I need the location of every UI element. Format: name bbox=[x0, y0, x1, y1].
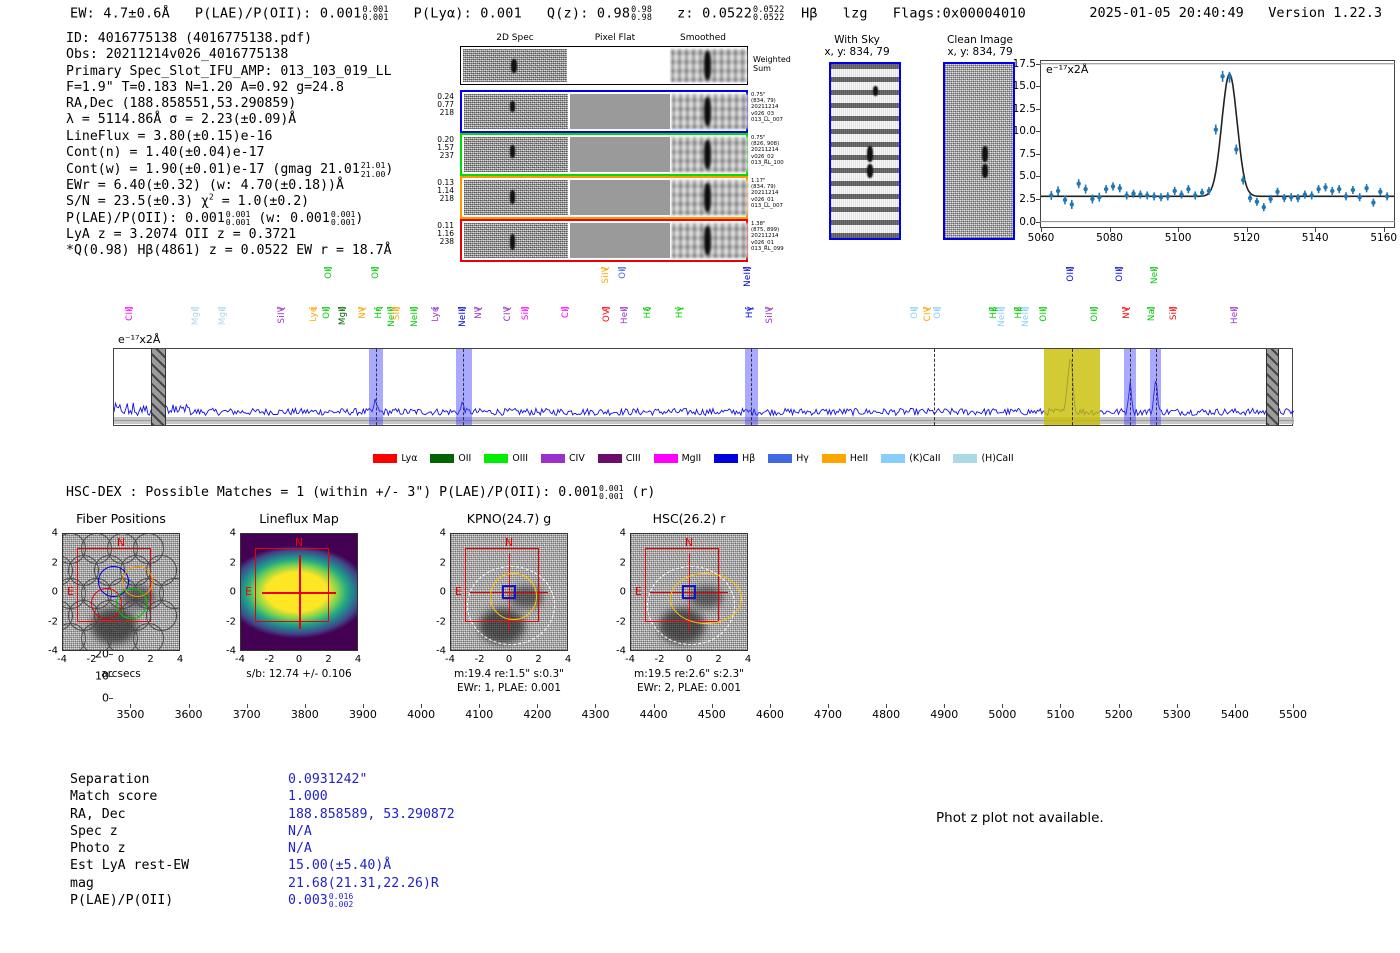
imaging-ytick: -2 bbox=[428, 616, 446, 627]
match-table-value: N/A bbox=[288, 823, 455, 840]
emission-line-brace-icon: { bbox=[125, 306, 135, 312]
full-spectrum-xtick: 5200 bbox=[1105, 708, 1133, 721]
full-spectrum-xtickmark bbox=[770, 704, 771, 708]
info-lambda: λ = 5114.86Å σ = 2.23(±0.09)Å bbox=[66, 112, 393, 128]
legend-label: Hβ bbox=[742, 453, 755, 464]
zoom-spectrum-xtickmark bbox=[1178, 228, 1179, 232]
imaging-panel-caption: arcsecs bbox=[32, 668, 210, 680]
zoom-spectrum-xtickmark bbox=[1384, 228, 1385, 232]
spec2d-ws-pixelflat-image bbox=[569, 47, 669, 84]
compass-east-label: E bbox=[635, 585, 642, 598]
header-lineid: Hβ bbox=[801, 5, 818, 21]
full-spectrum-xtickmark bbox=[305, 704, 306, 708]
legend-item: MgII bbox=[654, 453, 702, 464]
zoom-spectrum-xtick: 5080 bbox=[1096, 232, 1123, 244]
header-code: lzg bbox=[843, 5, 868, 21]
full-spectrum-chart: CIII{MgII{MgII{SiIV{Lyα{OII{OII{MgII{NV{… bbox=[0, 278, 1400, 463]
imaging-ytick: -2 bbox=[40, 616, 58, 627]
full-spectrum-ytickmark bbox=[109, 698, 113, 699]
emission-line-brace-icon: { bbox=[358, 306, 368, 312]
legend-item: HeII bbox=[822, 453, 868, 464]
imaging-ytick: 4 bbox=[218, 528, 236, 539]
imaging-xtick: 4 bbox=[177, 654, 183, 665]
full-spectrum-xtickmark bbox=[654, 704, 655, 708]
emission-line-label: SiIV{ bbox=[601, 266, 611, 328]
full-spectrum-xtickmark bbox=[537, 704, 538, 708]
emission-line-brace-icon: { bbox=[618, 266, 628, 272]
imaging-xtick: 2 bbox=[535, 654, 541, 665]
zoom-spectrum-ytick: 0.0 bbox=[1002, 216, 1036, 228]
header-timestamp: 2025-01-05 20:40:49 bbox=[1089, 5, 1243, 21]
emission-line-brace-icon: { bbox=[933, 306, 943, 312]
info-qline: *Q(0.98) Hβ(4861) z = 0.0522 EW r = 18.7… bbox=[66, 243, 393, 259]
emission-line-label: OII{ bbox=[618, 266, 628, 328]
full-spectrum-legend: LyαOIIOIIICIVCIIIMgIIHβHγHeII(K)CaII(H)C… bbox=[0, 448, 1400, 467]
full-spectrum-xtickmark bbox=[886, 704, 887, 708]
imaging-xtick: 0 bbox=[506, 654, 512, 665]
match-plae-value: 0.003 bbox=[288, 893, 328, 908]
full-spectrum-xtick: 4700 bbox=[814, 708, 842, 721]
legend-item: (H)CaII bbox=[953, 453, 1013, 464]
zoom-spectrum-ytickmark bbox=[1036, 222, 1040, 223]
emission-line-brace-icon: { bbox=[392, 306, 402, 312]
legend-label: OII bbox=[458, 453, 471, 464]
imaging-panel-title: KPNO(24.7) g bbox=[430, 511, 588, 526]
full-spectrum-xtick: 5300 bbox=[1163, 708, 1191, 721]
legend-swatch bbox=[881, 454, 905, 463]
match-table-label: RA, Dec bbox=[70, 806, 189, 823]
zoom-spectrum-ytick: 12.5 bbox=[1002, 103, 1036, 115]
imaging-panel-image[interactable]: NE bbox=[630, 533, 748, 651]
zoom-spectrum-xtick: 5160 bbox=[1370, 232, 1397, 244]
imaging-ytick: -4 bbox=[608, 646, 626, 657]
emission-line-brace-icon: { bbox=[1066, 266, 1076, 272]
spec2d-row-pixelflat bbox=[570, 137, 670, 172]
full-spectrum-xtickmark bbox=[421, 704, 422, 708]
spec2d-row bbox=[460, 176, 748, 219]
spec2d-row bbox=[460, 90, 748, 133]
imaging-xtick: 0 bbox=[118, 654, 124, 665]
full-spectrum-line-marker bbox=[934, 349, 935, 425]
compass-north-label: N bbox=[685, 536, 693, 549]
imaging-ytick: -4 bbox=[428, 646, 446, 657]
zoom-spectrum-xtickmark bbox=[1247, 228, 1248, 232]
header-flags: Flags:0x00004010 bbox=[893, 5, 1026, 21]
zoom-spectrum-ytickmark bbox=[1036, 176, 1040, 177]
spec2d-row-smoothed bbox=[672, 94, 748, 129]
match-table-values: 0.0931242"1.000188.858589, 53.290872N/AN… bbox=[288, 771, 455, 910]
spec2d-panel: 2D Spec Pixel Flat Smoothed Weighted Sum… bbox=[420, 33, 760, 268]
match-table-value: 0.0030.0160.002 bbox=[288, 892, 455, 909]
legend-swatch bbox=[768, 454, 792, 463]
legend-swatch bbox=[484, 454, 508, 463]
spec2d-row-left-stats: 0.201.57237 bbox=[414, 136, 454, 161]
legend-swatch bbox=[598, 454, 622, 463]
match-marker-box bbox=[502, 585, 516, 599]
spec2d-row-left-stats: 0.240.77218 bbox=[414, 93, 454, 118]
header-z-lo: 0.0522 bbox=[753, 13, 784, 21]
info-plae: P(LAE)/P(OII): 0.0010.0010.001 (w: 0.001… bbox=[66, 210, 393, 226]
legend-item: Hβ bbox=[714, 453, 755, 464]
imaging-panel-caption-secondary: EWr: 1, PLAE: 0.001 bbox=[420, 682, 598, 694]
header-plae-label: P(LAE)/P(OII): bbox=[195, 5, 312, 21]
imaging-xtick: -2 bbox=[87, 654, 97, 665]
full-spectrum-xtickmark bbox=[1293, 704, 1294, 708]
cutout-with-sky-image bbox=[829, 62, 901, 240]
source-info-block: ID: 4016775138 (4016775138.pdf) Obs: 202… bbox=[66, 31, 393, 259]
full-spectrum-xtickmark bbox=[1060, 704, 1061, 708]
zoom-spectrum-xtick: 5140 bbox=[1302, 232, 1329, 244]
zoom-spectrum-xtick: 5100 bbox=[1165, 232, 1192, 244]
match-table-value: 15.00(±5.40)Å bbox=[288, 857, 455, 874]
fiber-circle bbox=[133, 623, 164, 652]
imaging-panel-title: HSC(26.2) r bbox=[610, 511, 768, 526]
emission-line-brace-icon: { bbox=[1230, 306, 1240, 312]
match-table-label: P(LAE)/P(OII) bbox=[70, 892, 189, 909]
spec2d-row-2dspec bbox=[464, 94, 568, 129]
highlighted-fiber-circle bbox=[116, 588, 147, 619]
info-slot: Primary Spec_Slot_IFU_AMP: 013_103_019_L… bbox=[66, 64, 393, 80]
imaging-xtick: -2 bbox=[655, 654, 665, 665]
spec2d-row bbox=[460, 219, 748, 262]
zoom-spectrum-ytick: 7.5 bbox=[1002, 148, 1036, 160]
header-qz: Q(z): 0.98 bbox=[547, 5, 630, 21]
full-spectrum-xtickmark bbox=[363, 704, 364, 708]
imaging-xtick: 4 bbox=[565, 654, 571, 665]
aperture-box bbox=[255, 548, 329, 622]
info-sn-pre: S/N = 23.5(±0.3) χ bbox=[66, 194, 209, 209]
info-sn: S/N = 23.5(±0.3) χ2 = 1.0(±0.2) bbox=[66, 194, 393, 210]
legend-item: CIII bbox=[598, 453, 641, 464]
legend-item: OIII bbox=[484, 453, 528, 464]
emission-line-brace-icon: { bbox=[765, 306, 775, 312]
match-table-label: mag bbox=[70, 875, 189, 892]
emission-line-brace-icon: { bbox=[474, 306, 484, 312]
spec2d-row-smoothed bbox=[672, 223, 748, 258]
compass-north-label: N bbox=[505, 536, 513, 549]
full-spectrum-xtickmark bbox=[595, 704, 596, 708]
imaging-ytick: 4 bbox=[40, 528, 58, 539]
match-table-value: 0.0931242" bbox=[288, 771, 455, 788]
zoom-spectrum-xtickmark bbox=[1110, 228, 1111, 232]
full-spectrum-axes: e⁻¹⁷x2Å bbox=[113, 348, 1293, 426]
emission-line-brace-icon: { bbox=[371, 266, 381, 272]
emission-line-brace-icon: { bbox=[1122, 306, 1132, 312]
emission-line-brace-icon: { bbox=[410, 306, 420, 312]
zoom-spectrum-axes: e⁻¹⁷x2Å bbox=[1040, 60, 1395, 228]
full-spectrum-xtickmark bbox=[1119, 704, 1120, 708]
emission-line-label: OIII{ bbox=[1066, 266, 1076, 328]
emission-line-brace-icon: { bbox=[191, 306, 201, 312]
zoom-spectrum-xtickmark bbox=[1041, 228, 1042, 232]
imaging-ytick: 4 bbox=[608, 528, 626, 539]
header-z: z: 0.0522 bbox=[677, 5, 752, 21]
legend-item: Lyα bbox=[373, 453, 417, 464]
full-spectrum-xtick: 3900 bbox=[349, 708, 377, 721]
spec2d-row-metadata: 0.75"(826, 908)20211214v026_02013_RL_100 bbox=[751, 135, 811, 166]
emission-line-brace-icon: { bbox=[431, 306, 441, 312]
emission-line-label: OII{ bbox=[324, 266, 334, 328]
full-spectrum-xtick: 5500 bbox=[1279, 708, 1307, 721]
full-spectrum-line-marker bbox=[463, 349, 464, 425]
emission-line-label: OII{ bbox=[371, 266, 381, 328]
match-table-label: Est LyA rest-EW bbox=[70, 857, 189, 874]
emission-line-brace-icon: { bbox=[277, 306, 287, 312]
legend-label: OIII bbox=[512, 453, 528, 464]
match-table-value: 1.000 bbox=[288, 788, 455, 805]
imaging-panel-title: Lineflux Map bbox=[220, 511, 378, 526]
spec2d-row-pixelflat bbox=[570, 94, 670, 129]
full-spectrum-xtickmark bbox=[479, 704, 480, 708]
header-ew: EW: 4.7±0.6Å bbox=[70, 5, 170, 21]
full-spectrum-xtick: 3500 bbox=[116, 708, 144, 721]
imaging-ytick: -2 bbox=[218, 616, 236, 627]
emission-line-brace-icon: { bbox=[1021, 306, 1031, 312]
full-spectrum-flux-annotation: e⁻¹⁷x2Å bbox=[118, 333, 160, 346]
match-table-label: Spec z bbox=[70, 823, 189, 840]
crosshair-vertical bbox=[299, 555, 301, 629]
full-spectrum-xtick: 4400 bbox=[640, 708, 668, 721]
emission-line-brace-icon: { bbox=[561, 306, 571, 312]
header-version: Version 1.22.3 bbox=[1268, 5, 1382, 21]
match-table-labels: SeparationMatch scoreRA, DecSpec zPhoto … bbox=[70, 771, 189, 909]
spec2d-ws-2dspec-image bbox=[463, 49, 567, 82]
hscdex-header-band: (r) bbox=[632, 485, 656, 500]
full-spectrum-xtick: 5100 bbox=[1046, 708, 1074, 721]
full-spectrum-xtick: 4000 bbox=[407, 708, 435, 721]
imaging-xtick: 2 bbox=[147, 654, 153, 665]
header-plae-lo: 0.001 bbox=[362, 13, 388, 21]
spec2d-col-title-2dspec: 2D Spec bbox=[460, 33, 570, 43]
emission-line-brace-icon: { bbox=[1090, 306, 1100, 312]
emission-line-brace-icon: { bbox=[309, 306, 319, 312]
imaging-ytick: 0 bbox=[40, 587, 58, 598]
match-table-value: 188.858589, 53.290872 bbox=[288, 806, 455, 823]
emission-line-brace-icon: { bbox=[458, 306, 468, 312]
imaging-ytick: 2 bbox=[428, 557, 446, 568]
header-summary-line: EW: 4.7±0.6Å P(LAE)/P(OII): 0.0010.0010.… bbox=[70, 5, 1026, 22]
full-spectrum-xtick: 3600 bbox=[175, 708, 203, 721]
imaging-panel-caption: m:19.4 re:1.5" s:0.3" bbox=[420, 668, 598, 680]
imaging-panel-image[interactable]: NE bbox=[240, 533, 358, 651]
legend-label: (K)CaII bbox=[909, 453, 940, 464]
legend-label: (H)CaII bbox=[981, 453, 1013, 464]
imaging-xtick: 2 bbox=[715, 654, 721, 665]
info-cont-w-post: ) bbox=[385, 163, 393, 178]
full-spectrum-xtick: 4600 bbox=[756, 708, 784, 721]
full-spectrum-xtick: 5000 bbox=[988, 708, 1016, 721]
emission-line-brace-icon: { bbox=[743, 266, 753, 272]
info-cont-w-lo: 21.00 bbox=[361, 170, 386, 178]
full-spectrum-line-marker bbox=[1130, 349, 1131, 425]
legend-item: (K)CaII bbox=[881, 453, 940, 464]
spec2d-ws-smoothed-image bbox=[671, 49, 747, 82]
photz-note: Phot z plot not available. bbox=[936, 810, 1104, 826]
emission-line-brace-icon: { bbox=[1169, 306, 1179, 312]
zoom-spectrum-ytick: 17.5 bbox=[1002, 58, 1036, 70]
legend-swatch bbox=[953, 454, 977, 463]
full-spectrum-line-marker bbox=[1156, 349, 1157, 425]
emission-line-brace-icon: { bbox=[324, 266, 334, 272]
spec2d-col-title-smoothed: Smoothed bbox=[658, 33, 748, 43]
info-plae-pre: P(LAE)/P(OII): 0.001 bbox=[66, 211, 225, 226]
info-plae-lo: 0.001 bbox=[226, 218, 251, 226]
spec2d-row-pixelflat bbox=[570, 223, 670, 258]
emission-line-brace-icon: { bbox=[923, 306, 933, 312]
imaging-ytick: -4 bbox=[40, 646, 58, 657]
spec2d-weighted-sum-row bbox=[460, 46, 748, 85]
info-plae-end: ) bbox=[355, 211, 363, 226]
imaging-ytick: 2 bbox=[218, 557, 236, 568]
imaging-xtick: -2 bbox=[265, 654, 275, 665]
full-spectrum-ytick: 0 bbox=[81, 691, 109, 704]
emission-line-brace-icon: { bbox=[1115, 266, 1125, 272]
imaging-xtick: -4 bbox=[235, 654, 245, 665]
imaging-ytick: -2 bbox=[608, 616, 626, 627]
zoom-spectrum-ytick: 5.0 bbox=[1002, 170, 1036, 182]
full-spectrum-line-marker bbox=[376, 349, 377, 425]
emission-line-brace-icon: { bbox=[1039, 306, 1049, 312]
imaging-panel-caption: m:19.5 re:2.6" s:2.3" bbox=[600, 668, 778, 680]
full-spectrum-xtick: 4300 bbox=[581, 708, 609, 721]
imaging-xtick: 4 bbox=[355, 654, 361, 665]
imaging-panel-title: Fiber Positions bbox=[42, 511, 200, 526]
imaging-panel-image[interactable]: NE bbox=[450, 533, 568, 651]
full-spectrum-xtickmark bbox=[944, 704, 945, 708]
full-spectrum-masked-region bbox=[1266, 349, 1278, 425]
header-timestamp-version: 2025-01-05 20:40:49 Version 1.22.3 bbox=[1089, 5, 1382, 21]
imaging-panel-caption: s/b: 12.74 +/- 0.106 bbox=[210, 668, 388, 680]
match-marker-box bbox=[682, 585, 696, 599]
full-spectrum-xtickmark bbox=[247, 704, 248, 708]
emission-line-brace-icon: { bbox=[643, 306, 653, 312]
imaging-xtick: 4 bbox=[745, 654, 751, 665]
imaging-ytick: 0 bbox=[218, 587, 236, 598]
emission-line-brace-icon: { bbox=[218, 306, 228, 312]
zoom-spectrum-ytickmark bbox=[1036, 131, 1040, 132]
spec2d-row-left-stats: 0.111.16238 bbox=[414, 222, 454, 247]
full-spectrum-xtickmark bbox=[1235, 704, 1236, 708]
legend-swatch bbox=[822, 454, 846, 463]
spec2d-row-smoothed bbox=[672, 180, 748, 215]
match-table-label: Separation bbox=[70, 771, 189, 788]
spec2d-weighted-sum-label: Weighted Sum bbox=[753, 55, 791, 73]
zoom-spectrum-xtickmark bbox=[1315, 228, 1316, 232]
full-spectrum-line-marker bbox=[1072, 349, 1073, 425]
spec2d-row-metadata: 0.75"(834, 79)20211214v026_03013_LL_007 bbox=[751, 92, 811, 123]
full-spectrum-xtickmark bbox=[1002, 704, 1003, 708]
info-ewr: EWr = 6.40(±0.32) (w: 4.70(±0.18))Å bbox=[66, 178, 393, 194]
full-spectrum-xtickmark bbox=[712, 704, 713, 708]
compass-east-label: E bbox=[245, 585, 252, 598]
spec2d-row bbox=[460, 133, 748, 176]
info-cont-w-pre: Cont(w) = 1.90(±0.01)e-17 (gmag 21.01 bbox=[66, 163, 360, 178]
full-spectrum-xtickmark bbox=[828, 704, 829, 708]
imaging-ytick: 0 bbox=[428, 587, 446, 598]
legend-label: Lyα bbox=[401, 453, 417, 464]
imaging-panel-image[interactable]: NE bbox=[62, 533, 180, 651]
legend-label: CIV bbox=[569, 453, 585, 464]
match-table-value: N/A bbox=[288, 840, 455, 857]
imaging-ytick: 4 bbox=[428, 528, 446, 539]
full-spectrum-xtick: 3700 bbox=[233, 708, 261, 721]
emission-line-brace-icon: { bbox=[521, 306, 531, 312]
imaging-xtick: 0 bbox=[296, 654, 302, 665]
legend-label: MgII bbox=[682, 453, 702, 464]
zoom-spectrum-ytick: 2.5 bbox=[1002, 193, 1036, 205]
full-spectrum-xtick: 4800 bbox=[872, 708, 900, 721]
legend-label: Hγ bbox=[796, 453, 809, 464]
spec2d-row-2dspec bbox=[464, 223, 568, 258]
cutout-with-sky-title: With Sky x, y: 834, 79 bbox=[812, 34, 902, 58]
spec2d-row-2dspec bbox=[464, 180, 568, 215]
match-table-label: Match score bbox=[70, 788, 189, 805]
legend-swatch bbox=[373, 454, 397, 463]
zoom-spectrum-svg bbox=[1040, 60, 1395, 228]
info-id: ID: 4016775138 (4016775138.pdf) bbox=[66, 31, 393, 47]
imaging-xtick: -2 bbox=[475, 654, 485, 665]
imaging-ytick: 0 bbox=[608, 587, 626, 598]
info-lineflux: LineFlux = 3.80(±0.15)e-16 bbox=[66, 129, 393, 145]
legend-label: HeII bbox=[850, 453, 868, 464]
legend-label: CIII bbox=[626, 453, 641, 464]
full-spectrum-xtickmark bbox=[189, 704, 190, 708]
full-spectrum-ytickmark bbox=[109, 654, 113, 655]
cutout-clean-title: Clean Image x, y: 834, 79 bbox=[930, 34, 1030, 58]
zoom-spectrum-ytickmark bbox=[1036, 64, 1040, 65]
zoom-spectrum-ytickmark bbox=[1036, 109, 1040, 110]
full-spectrum-xtick: 5400 bbox=[1221, 708, 1249, 721]
info-radec: RA,Dec (188.858551,53.290859) bbox=[66, 96, 393, 112]
match-table-label: Photo z bbox=[70, 840, 189, 857]
hscdex-header: HSC-DEX : Possible Matches = 1 (within +… bbox=[66, 484, 655, 500]
legend-item: OII bbox=[430, 453, 471, 464]
legend-swatch bbox=[430, 454, 454, 463]
imaging-xtick: -4 bbox=[57, 654, 67, 665]
imaging-ytick: 2 bbox=[40, 557, 58, 568]
match-plae-lo: 0.002 bbox=[329, 900, 354, 908]
imaging-xtick: 0 bbox=[686, 654, 692, 665]
legend-item: CIV bbox=[541, 453, 585, 464]
emission-line-brace-icon: { bbox=[601, 266, 611, 272]
zoom-spectrum-ytickmark bbox=[1036, 199, 1040, 200]
info-cont-n: Cont(n) = 1.40(±0.04)e-17 bbox=[66, 145, 393, 161]
hscdex-header-lo: 0.001 bbox=[599, 492, 624, 500]
imaging-panel-caption-secondary: EWr: 2, PLAE: 0.001 bbox=[600, 682, 778, 694]
spec2d-row-pixelflat bbox=[570, 180, 670, 215]
zoom-spectrum-xtick: 5060 bbox=[1028, 232, 1055, 244]
legend-swatch bbox=[541, 454, 565, 463]
full-spectrum-xtick: 3800 bbox=[291, 708, 319, 721]
emission-line-brace-icon: { bbox=[1150, 266, 1160, 272]
imaging-xtick: -4 bbox=[625, 654, 635, 665]
zoom-spectrum-ytick: 15.0 bbox=[1002, 80, 1036, 92]
zoom-spectrum-ytickmark bbox=[1036, 86, 1040, 87]
spec2d-row-smoothed bbox=[672, 137, 748, 172]
compass-north-label: N bbox=[295, 536, 303, 549]
full-spectrum-xtickmark bbox=[130, 704, 131, 708]
full-spectrum-xtick: 4900 bbox=[930, 708, 958, 721]
spec2d-row-left-stats: 0.131.14218 bbox=[414, 179, 454, 204]
info-obs: Obs: 20211214v026_4016775138 bbox=[66, 47, 393, 63]
header-plae-value: 0.001 bbox=[320, 5, 362, 21]
legend-item: Hγ bbox=[768, 453, 809, 464]
full-spectrum-band bbox=[456, 349, 472, 425]
info-plae-w-lo: 0.001 bbox=[331, 218, 356, 226]
full-spectrum-masked-region bbox=[151, 349, 166, 425]
full-spectrum-svg bbox=[114, 349, 1294, 427]
imaging-ytick: -4 bbox=[218, 646, 236, 657]
